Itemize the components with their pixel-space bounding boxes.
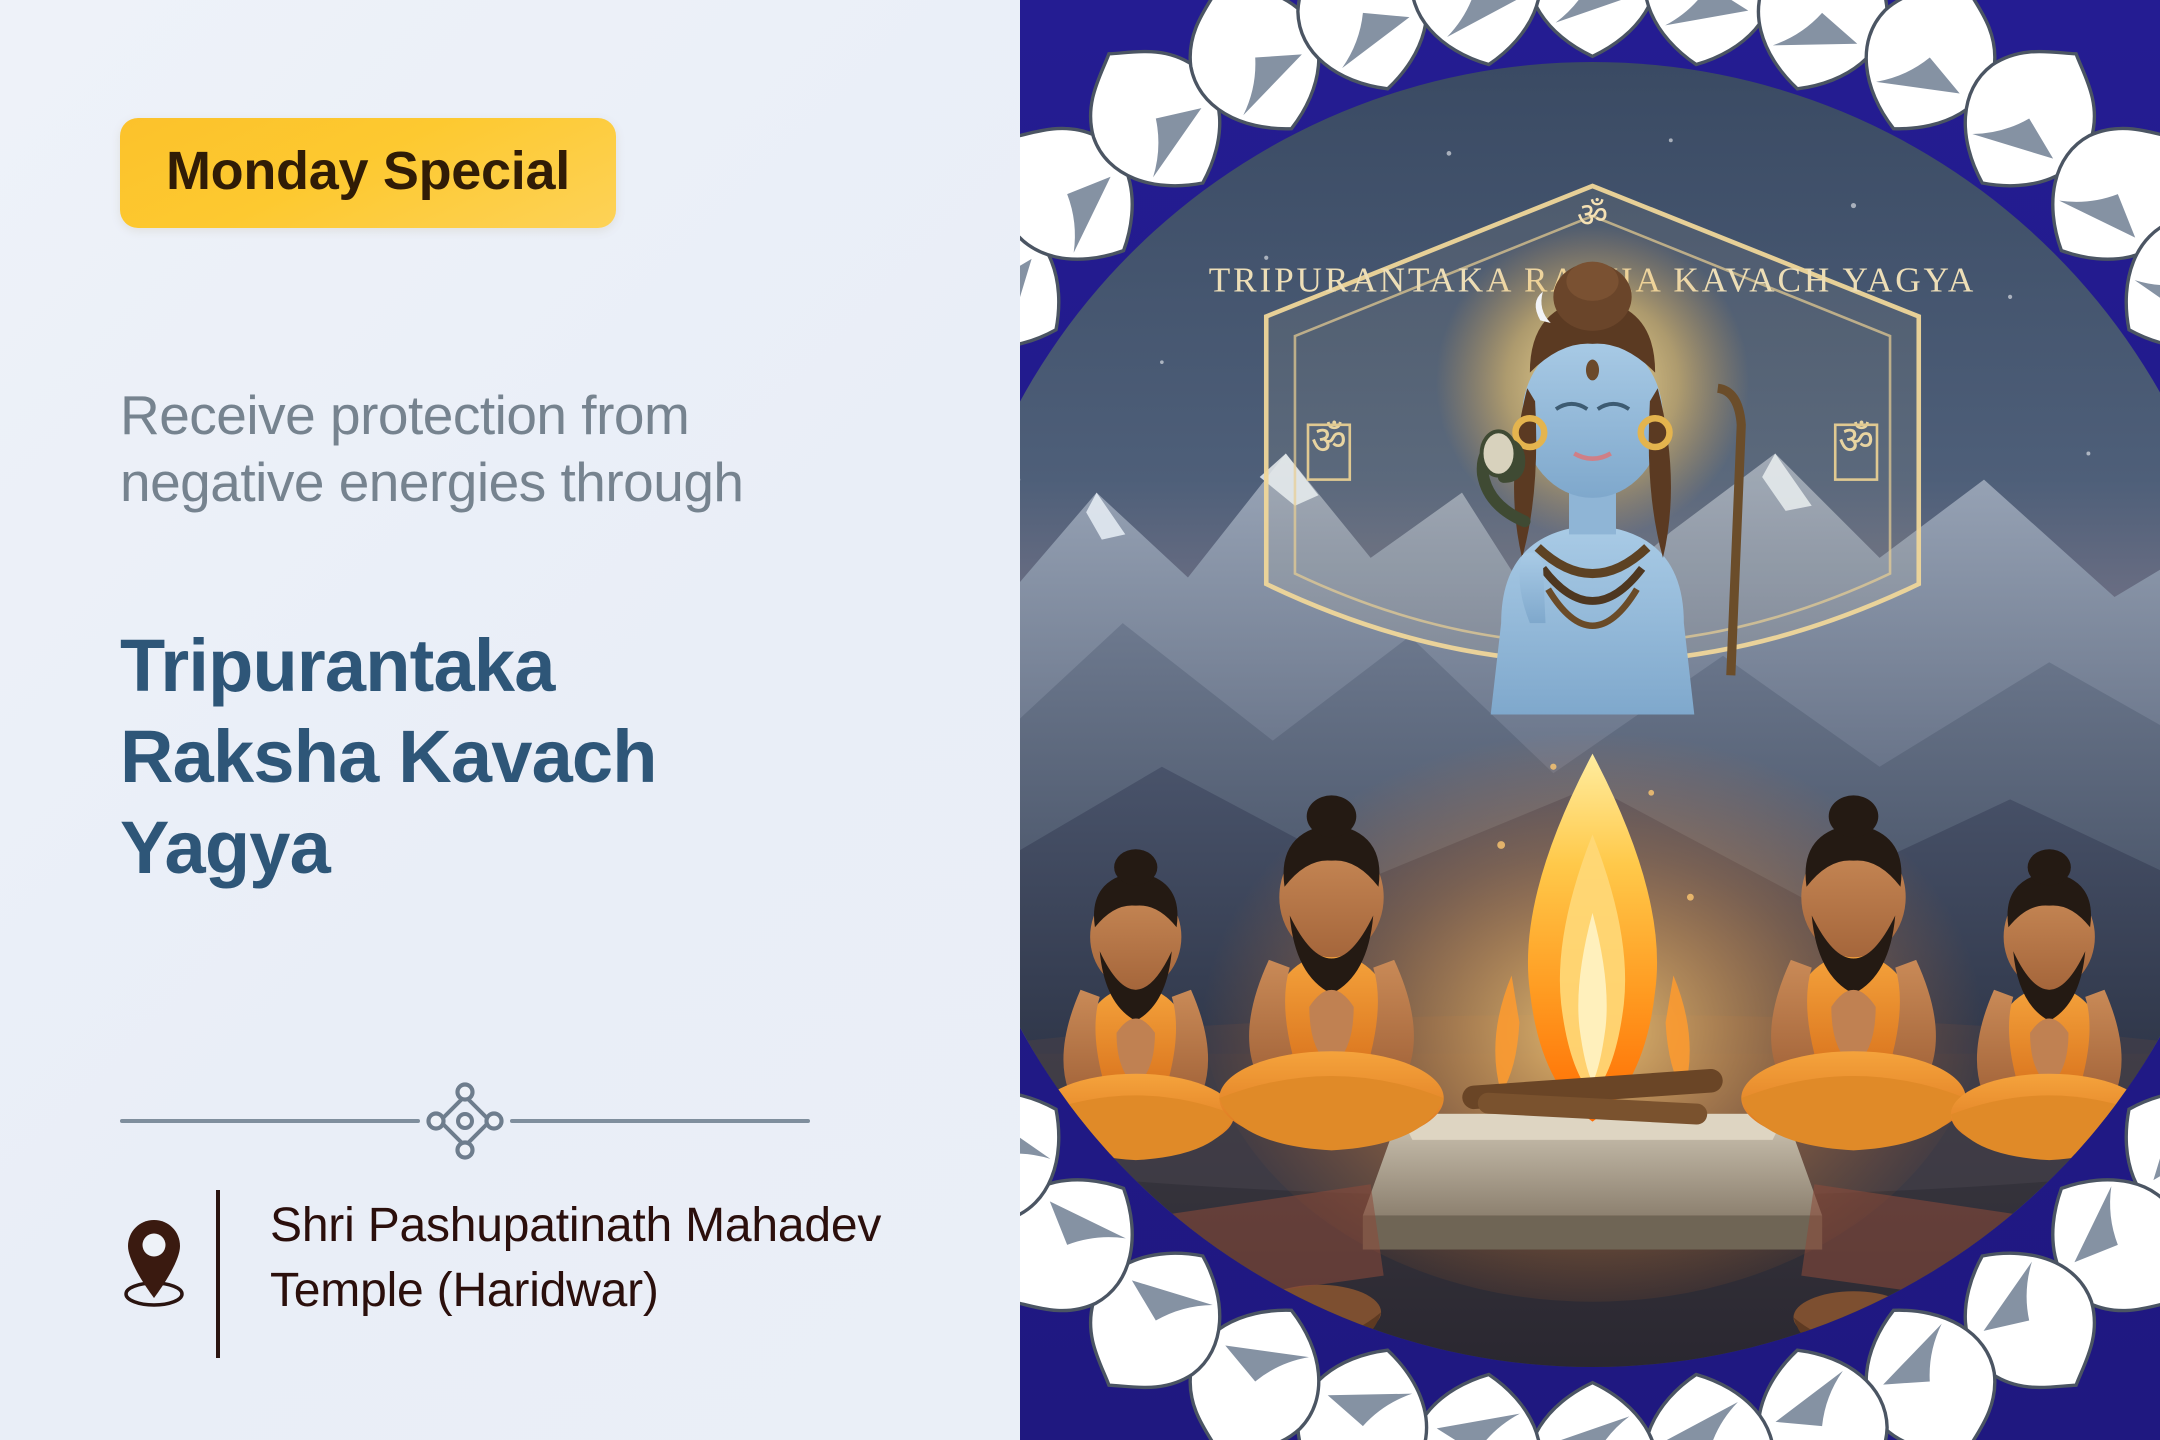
monday-special-badge: Monday Special bbox=[120, 118, 616, 228]
location-line-2: Temple (Haridwar) bbox=[270, 1259, 881, 1324]
subtitle-line-1: Receive protection from bbox=[120, 382, 980, 449]
subtitle-line-2: negative energies through bbox=[120, 449, 980, 516]
image-panel: TRIPURANTAKA RAKHA KAVACH YAGYA ॐ ॐ ॐ ॐ bbox=[1020, 0, 2160, 1440]
location-block: Shri Pashupatinath Mahadev Temple (Harid… bbox=[120, 1190, 881, 1358]
location-line-1: Shri Pashupatinath Mahadev bbox=[270, 1194, 881, 1259]
location-vertical-rule bbox=[216, 1190, 220, 1358]
left-content-inner: Monday Special Receive protection from n… bbox=[120, 0, 960, 1440]
headline-line-2: Raksha Kavach bbox=[120, 711, 910, 802]
left-content-panel: Monday Special Receive protection from n… bbox=[0, 0, 1020, 1440]
divider-line-left bbox=[120, 1119, 420, 1123]
badge-label: Monday Special bbox=[166, 144, 570, 198]
map-pin-icon bbox=[120, 1190, 216, 1308]
subtitle-text: Receive protection from negative energie… bbox=[120, 382, 980, 516]
divider-line-right bbox=[510, 1119, 810, 1123]
page-title: Tripurantaka Raksha Kavach Yagya bbox=[120, 620, 910, 893]
decorative-divider bbox=[120, 1078, 865, 1164]
headline-line-3: Yagya bbox=[120, 802, 910, 893]
headline-line-1: Tripurantaka bbox=[120, 620, 910, 711]
lotus-petal-mandala-border bbox=[1020, 0, 2160, 1440]
promotional-banner: Monday Special Receive protection from n… bbox=[0, 0, 2160, 1440]
location-text: Shri Pashupatinath Mahadev Temple (Harid… bbox=[270, 1190, 881, 1324]
diamond-ornament-icon bbox=[420, 1078, 510, 1164]
